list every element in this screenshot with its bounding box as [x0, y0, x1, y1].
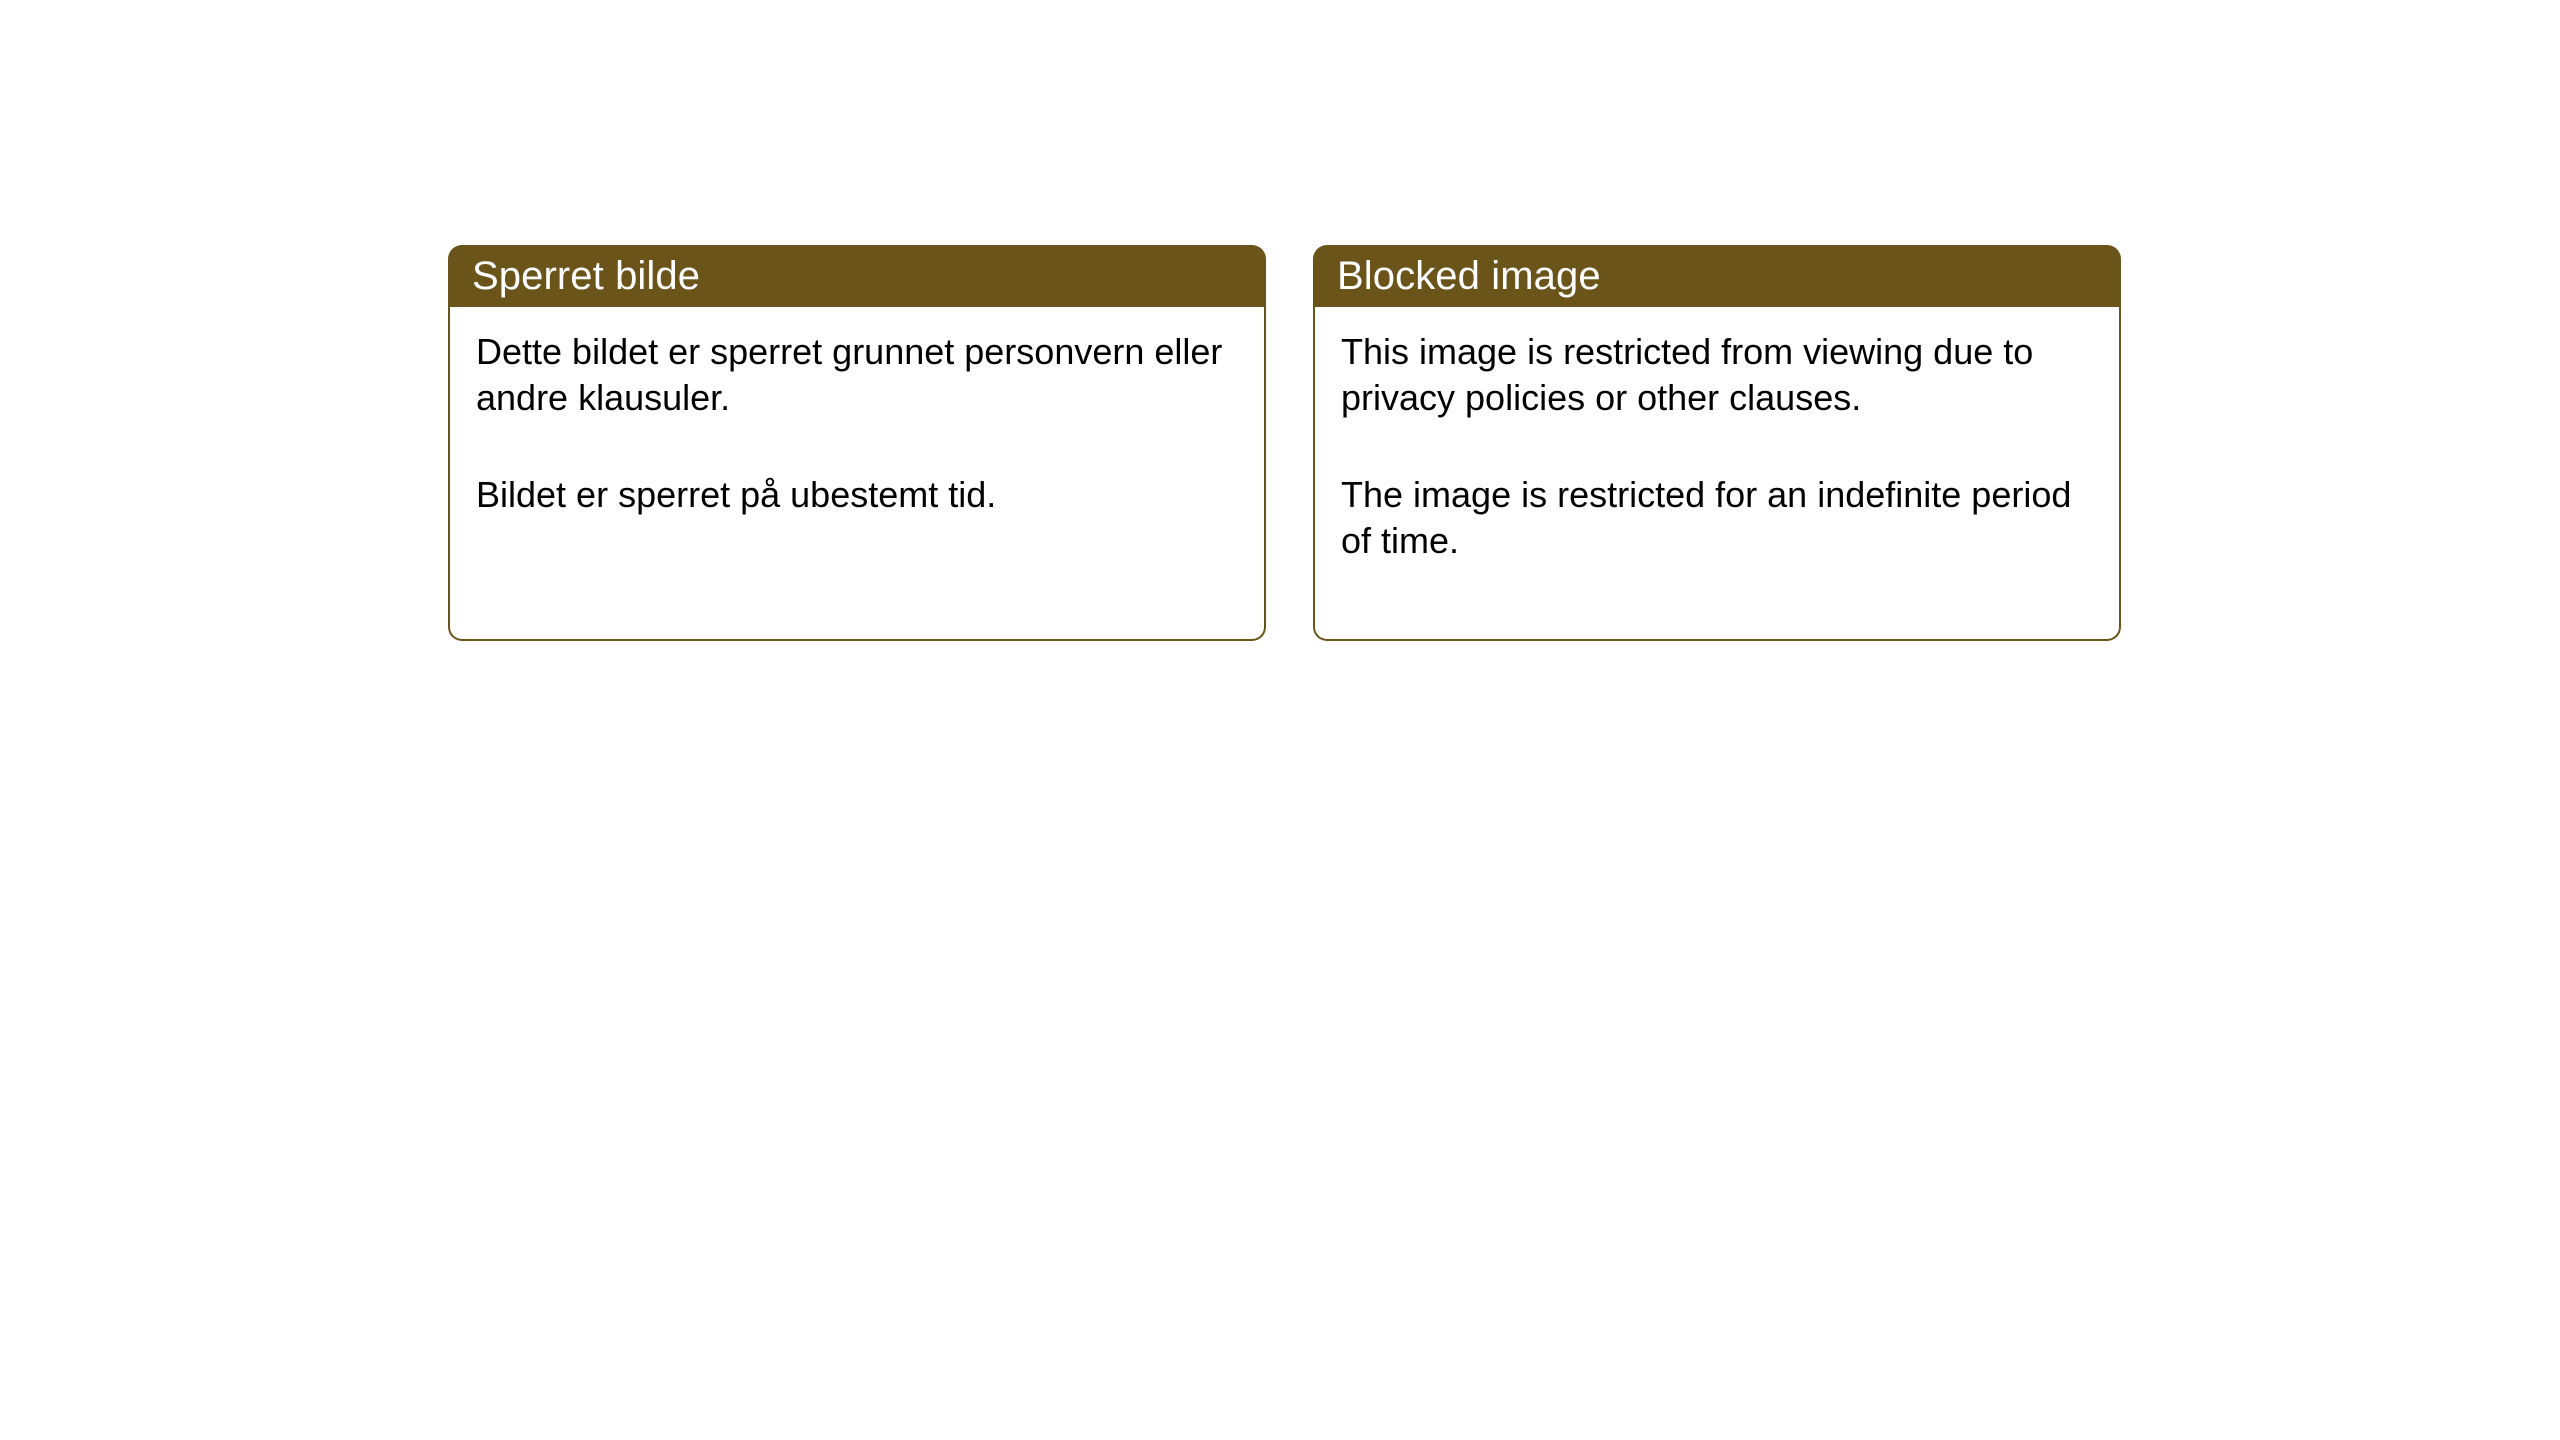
page-canvas: Sperret bilde Dette bildet er sperret gr… [0, 0, 2560, 1440]
panel-paragraph-reason-english: This image is restricted from viewing du… [1341, 329, 2099, 420]
panel-title-english: Blocked image [1337, 256, 1601, 296]
panel-header-norwegian: Sperret bilde [448, 245, 1266, 307]
panel-header-english: Blocked image [1313, 245, 2121, 307]
blocked-image-notice-english: Blocked image This image is restricted f… [1313, 245, 2121, 641]
panel-body-english: This image is restricted from viewing du… [1313, 307, 2121, 641]
panel-paragraph-duration-english: The image is restricted for an indefinit… [1341, 472, 2099, 563]
panel-paragraph-duration-norwegian: Bildet er sperret på ubestemt tid. [476, 472, 1244, 518]
panel-body-norwegian: Dette bildet er sperret grunnet personve… [448, 307, 1266, 641]
blocked-image-notice-norwegian: Sperret bilde Dette bildet er sperret gr… [448, 245, 1266, 641]
panel-paragraph-reason-norwegian: Dette bildet er sperret grunnet personve… [476, 329, 1244, 420]
panel-title-norwegian: Sperret bilde [472, 256, 700, 296]
